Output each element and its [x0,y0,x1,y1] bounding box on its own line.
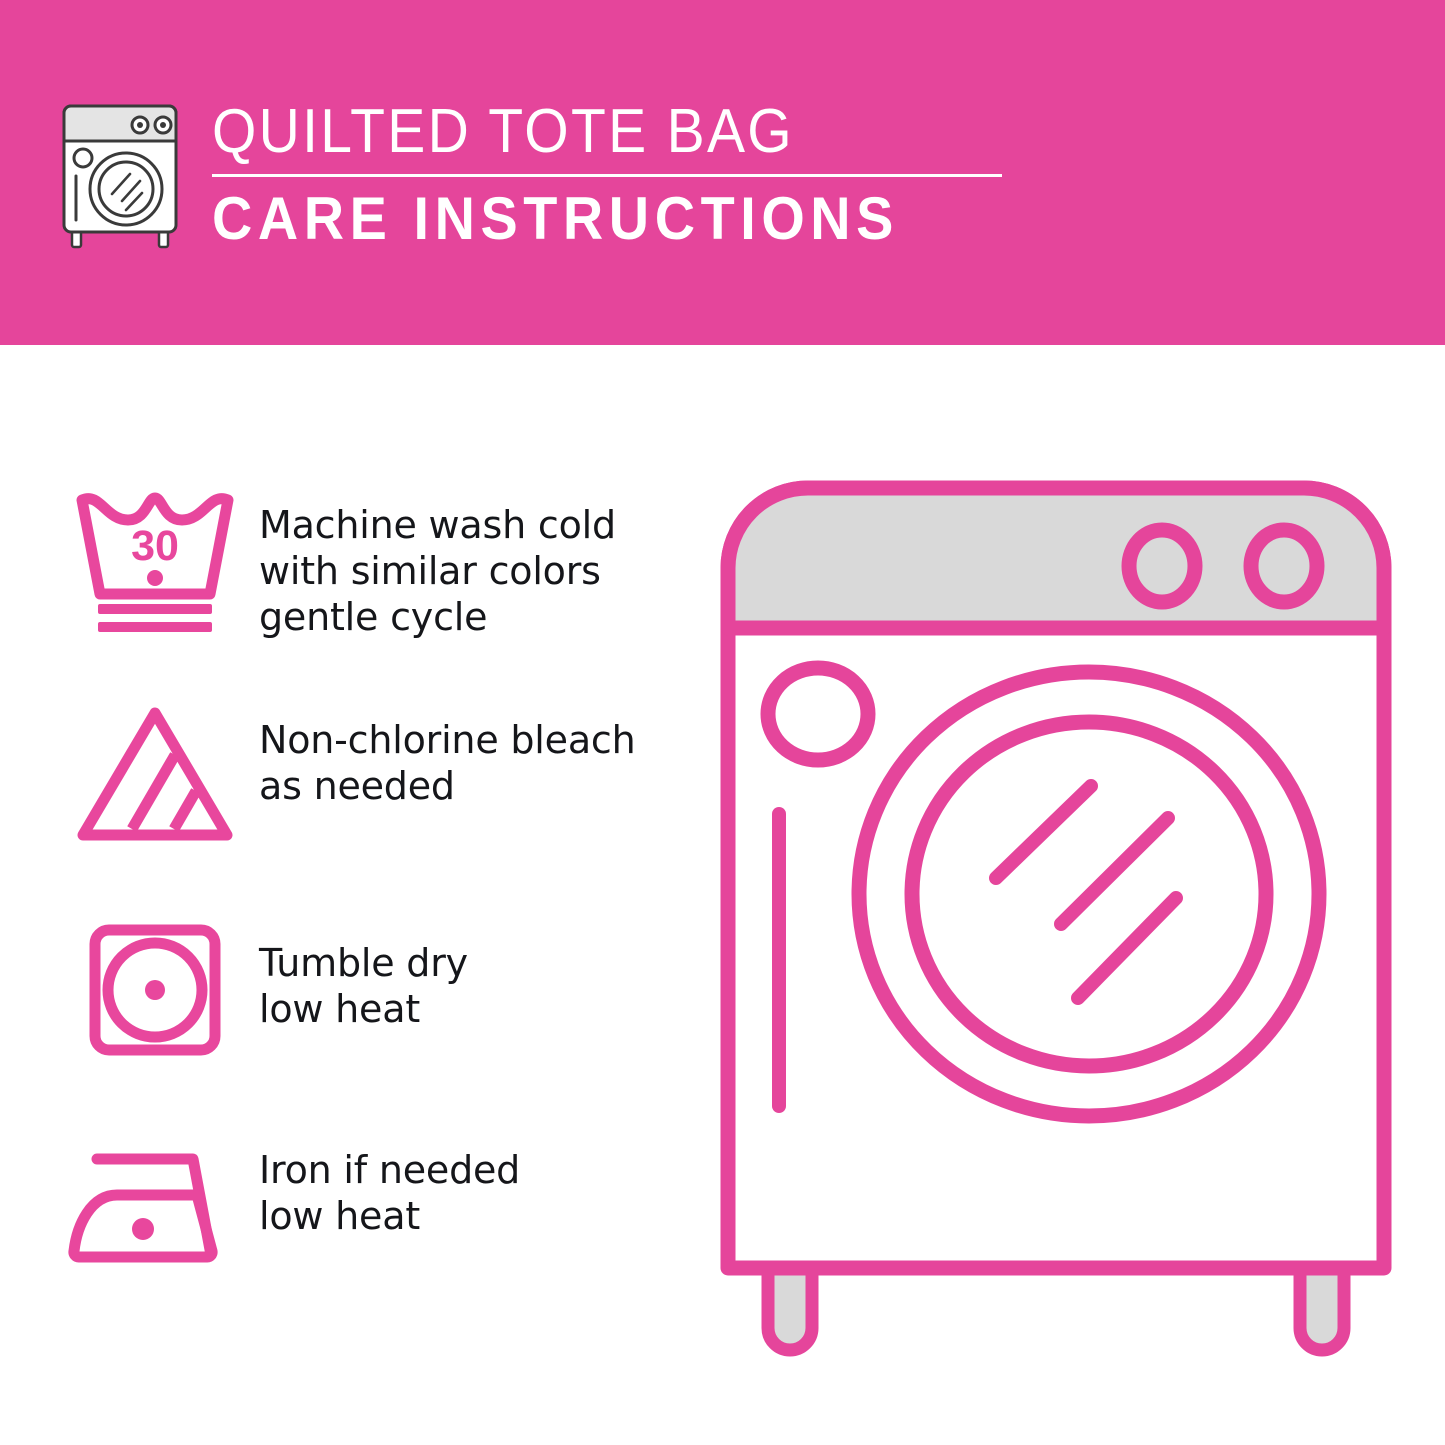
machine-leg-right [1300,1266,1344,1350]
care-text-line: with similar colors [259,548,702,594]
document-subtitle: CARE INSTRUCTIONS [212,187,947,251]
care-text-line: gentle cycle [259,594,702,640]
care-instructions-page: QUILTED TOTE BAG CARE INSTRUCTIONS 30 [0,0,1445,1445]
machine-wash-30-gentle-icon: 30 [70,486,240,636]
care-text-line: Non-chlorine bleach [259,717,702,763]
care-row-tumble-dry: Tumble dry low heat [62,910,702,1125]
header-title-group: QUILTED TOTE BAG CARE INSTRUCTIONS [212,96,1002,251]
care-text-line: low heat [259,1193,702,1239]
machine-leg-left [768,1266,812,1350]
care-text-tumble-dry: Tumble dry low heat [247,910,702,1032]
care-text-line: as needed [259,763,702,809]
header-band: QUILTED TOTE BAG CARE INSTRUCTIONS [0,0,1445,345]
care-text-line: Tumble dry [259,940,702,986]
title-divider [212,174,1002,177]
care-symbol-iron [62,1125,247,1267]
care-row-bleach: Non-chlorine bleach as needed [62,695,702,910]
care-text-wash: Machine wash cold with similar colors ge… [247,480,702,640]
care-text-line: Iron if needed [259,1147,702,1193]
care-symbol-wash: 30 [62,480,247,636]
care-row-iron: Iron if needed low heat [62,1125,702,1340]
care-text-line: low heat [259,986,702,1032]
care-instruction-list: 30 Machine wash cold with similar colors… [62,480,702,1340]
care-text-bleach: Non-chlorine bleach as needed [247,695,702,809]
care-symbol-bleach [62,695,247,848]
iron-low-heat-icon [65,1147,245,1267]
care-text-line: Machine wash cold [259,502,702,548]
non-chlorine-bleach-icon [70,703,240,848]
header-content: QUILTED TOTE BAG CARE INSTRUCTIONS [56,96,1386,266]
product-title: QUILTED TOTE BAG [212,98,939,166]
tumble-dry-low-heat-icon [85,920,225,1060]
care-row-wash: 30 Machine wash cold with similar colors… [62,480,702,695]
washing-machine-icon [56,100,184,250]
care-symbol-tumble-dry [62,910,247,1060]
care-text-iron: Iron if needed low heat [247,1125,702,1239]
wash-temperature-label: 30 [131,522,179,570]
washing-machine-illustration [706,466,1406,1366]
